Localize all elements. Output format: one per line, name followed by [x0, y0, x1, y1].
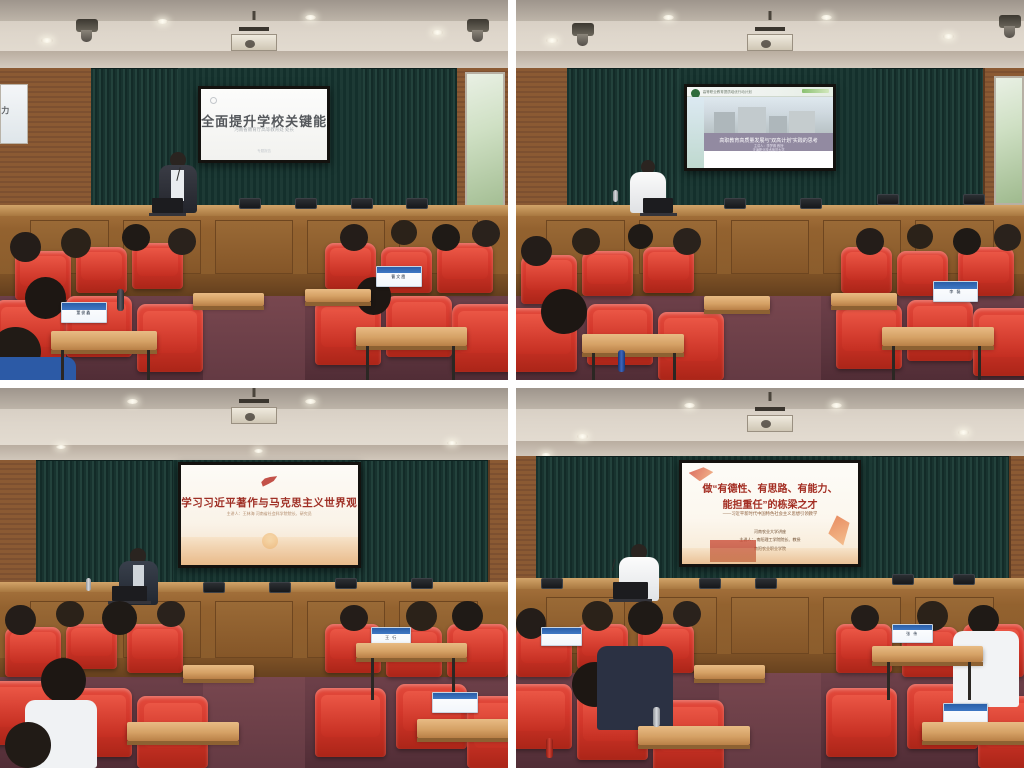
- ceiling-projector: [747, 34, 793, 51]
- ceiling-projector: [747, 415, 793, 432]
- audience-body: [0, 357, 76, 380]
- water-bottle: [618, 350, 625, 372]
- slide-subtitle-2: 天津职业技术师范大学: [704, 147, 833, 152]
- desk-monitor: [541, 578, 563, 589]
- desk: [356, 327, 468, 346]
- audience-head: [907, 224, 932, 249]
- slide-side-graphic: [687, 97, 705, 168]
- laptop: [152, 198, 182, 213]
- seat: [582, 251, 633, 297]
- projector-lens-icon: [761, 420, 771, 428]
- laptop: [112, 586, 148, 601]
- audience-head: [168, 228, 196, 255]
- party-emblem-icon: [261, 476, 277, 487]
- nameplate: 董俊鑫: [61, 302, 107, 323]
- desk: [872, 646, 984, 661]
- desk: [305, 289, 371, 302]
- desk-leg: [892, 346, 895, 380]
- audience-head: [851, 605, 879, 632]
- building-shape: [789, 111, 815, 133]
- desk: [831, 293, 897, 306]
- desk: [183, 665, 254, 678]
- desk-leg: [61, 350, 64, 380]
- projection-screen-frame: 做“有德性、有思路、有能力、 能担重任”的栋梁之才 ——习近平新时代中国特色社会…: [679, 460, 862, 566]
- ceiling-camera-icon: [572, 23, 594, 36]
- downlight: [254, 449, 263, 453]
- desk-monitor: [755, 578, 777, 589]
- slide-header-accent: [802, 89, 828, 93]
- projector-arm: [755, 407, 785, 411]
- slide-bullet-icon: [210, 97, 217, 104]
- desk: [922, 722, 1024, 741]
- projection-screen-frame: 全面提升学校关键能力 河南省教育厅高等教育处 处长 专题报告: [198, 86, 330, 164]
- water-bottle: [653, 707, 660, 727]
- audience-head: [521, 236, 551, 266]
- projection-screen-frame: 学习习近平著作与马克思主义世界观 主讲人：王林海 河南省社会科学院院长、研究员: [178, 462, 361, 568]
- ceiling-projector: [231, 34, 277, 51]
- desk-leg: [978, 346, 981, 380]
- slide-meta-1: 河南农业大学讲座: [682, 529, 859, 535]
- ceiling-projector: [231, 407, 277, 424]
- nameplate: 张 伟: [892, 624, 933, 643]
- building-shape: [738, 107, 766, 133]
- slide-header: 高等职业教育提质培优行动计划: [687, 87, 833, 98]
- audience-head: [572, 228, 600, 255]
- desk: [51, 331, 158, 350]
- flag-graphic: [689, 467, 714, 481]
- desk: [638, 726, 750, 745]
- desk-monitor: [269, 582, 291, 593]
- audience-head: [452, 601, 482, 631]
- desk-leg: [592, 353, 595, 380]
- window: [465, 72, 506, 216]
- audience-head: [10, 232, 40, 262]
- downlight: [958, 430, 969, 435]
- horizon-graphic: [682, 548, 859, 564]
- audience-body: [597, 646, 673, 730]
- nameplate-text: 董俊鑫: [62, 310, 106, 316]
- audience-body: [953, 631, 1019, 707]
- desk: [417, 719, 508, 738]
- projection-screen: 高等职业教育提质培优行动计划 高职教育高质量发展与“双高计划”实践的思考 主讲人…: [687, 87, 833, 168]
- nameplate-band: [433, 693, 477, 699]
- podium-top: [516, 205, 1024, 216]
- projector-lens-icon: [245, 40, 255, 48]
- panel-top-left: 能力 全面提升学校关键能力 河南省教育厅高等教育处 处长 专题报告: [0, 0, 508, 380]
- slide-title-line2: 能担重任”的栋梁之才: [682, 496, 859, 511]
- panel-top-right: 高等职业教育提质培优行动计划 高职教育高质量发展与“双高计划”实践的思考 主讲人…: [516, 0, 1024, 380]
- audience-head: [994, 224, 1022, 251]
- nameplate-band: [944, 704, 988, 710]
- projector-pole: [253, 388, 256, 397]
- water-bottle: [546, 738, 553, 758]
- projection-screen: 全面提升学校关键能力 河南省教育厅高等教育处 处长 专题报告: [201, 89, 327, 161]
- ceiling-camera-icon: [76, 19, 98, 32]
- projection-screen-frame: 高等职业教育提质培优行动计划 高职教育高质量发展与“双高计划”实践的思考 主讲人…: [684, 84, 836, 171]
- side-monitor: 能力: [0, 84, 28, 145]
- nameplate-band: [893, 625, 932, 631]
- nameplate-band: [372, 628, 411, 634]
- building-shape: [769, 116, 787, 133]
- desk-monitor: [892, 574, 914, 585]
- slide-meta-2: 主讲人： 南阳理工学院院长、教授: [682, 537, 859, 543]
- slide-header-text: 高等职业教育提质培优行动计划: [703, 90, 752, 95]
- desk-monitor: [800, 198, 822, 209]
- slide-subtitle: ——习近平新时代中国特色社会主义思想引领教学: [682, 511, 859, 517]
- desk-monitor: [351, 198, 373, 209]
- desk-monitor: [203, 582, 225, 593]
- downlight: [577, 434, 588, 439]
- projection-screen: 做“有德性、有思路、有能力、 能担重任”的栋梁之才 ——习近平新时代中国特色社会…: [682, 463, 859, 563]
- nameplate-band: [934, 282, 978, 288]
- nameplate-text: 张 伟: [893, 631, 932, 637]
- seat: [516, 684, 572, 749]
- center-aisle: [719, 673, 821, 768]
- desk: [127, 722, 239, 741]
- desk: [694, 665, 765, 678]
- desk-monitor: [724, 198, 746, 209]
- desk-monitor: [963, 194, 985, 205]
- laptop: [643, 198, 673, 213]
- nameplate-band: [62, 303, 106, 309]
- desk-leg: [673, 353, 676, 380]
- projector-lens-icon: [245, 413, 255, 421]
- ceiling-camera-icon: [467, 19, 489, 32]
- desk-monitor: [406, 198, 428, 209]
- audience-head: [56, 601, 84, 628]
- audience-head: [122, 224, 150, 251]
- projector-lens-icon: [761, 40, 771, 48]
- projector-pole: [253, 11, 256, 20]
- audience-head: [391, 220, 416, 245]
- window: [994, 76, 1024, 205]
- building-shape: [714, 112, 735, 133]
- desk-monitor: [295, 198, 317, 209]
- desk-monitor: [411, 578, 433, 589]
- campus-photo: [704, 97, 833, 133]
- slide-footer: 专题报告: [201, 149, 327, 154]
- audience-head: [628, 601, 664, 635]
- desk-leg: [452, 346, 455, 380]
- nameplate-text: 王 行: [372, 635, 411, 641]
- nameplate-text: 曹文霞: [377, 274, 421, 280]
- projector-arm: [755, 27, 785, 31]
- desk-leg: [147, 350, 150, 380]
- nameplate: 曹文霞: [376, 266, 422, 287]
- audience-head: [5, 722, 51, 768]
- water-bottle: [86, 578, 91, 591]
- audience-head: [582, 601, 612, 631]
- skyline-graphic: [181, 537, 358, 565]
- desk: [582, 334, 684, 353]
- slide-title-line1: 做“有德性、有思路、有能力、: [682, 480, 859, 495]
- audience-head: [432, 224, 460, 251]
- desk-leg: [366, 346, 369, 380]
- desk-monitor: [699, 578, 721, 589]
- seat: [127, 624, 183, 673]
- ceiling-camera-icon: [999, 15, 1021, 28]
- projector-pole: [769, 11, 772, 20]
- desk: [193, 293, 264, 306]
- nameplate-text: 李 磊: [934, 289, 978, 295]
- slide-subtitle: 主讲人：王林海 河南省社会科学院院长、研究员: [181, 511, 358, 517]
- nameplate: [943, 703, 989, 724]
- audience-head: [5, 605, 35, 635]
- nameplate-band: [377, 267, 421, 273]
- nameplate: [541, 627, 582, 646]
- projector-arm: [239, 27, 269, 31]
- audience-head: [953, 228, 981, 255]
- desk-monitor: [239, 198, 261, 209]
- downlight: [56, 445, 66, 449]
- panel-bottom-right: 做“有德性、有思路、有能力、 能担重任”的栋梁之才 ——习近平新时代中国特色社会…: [516, 388, 1024, 768]
- slide-title-bar: 高职教育高质量发展与“双高计划”实践的思考 主讲人：李梦卿 教授 天津职业技术师…: [704, 133, 833, 151]
- projector-arm: [239, 399, 269, 403]
- desk-monitor: [953, 574, 975, 585]
- audience-head: [673, 228, 701, 255]
- audience-head: [541, 289, 587, 335]
- water-bottle: [613, 190, 618, 202]
- thermos: [117, 289, 124, 311]
- slide-title: 学习习近平著作与马克思主义世界观: [181, 495, 358, 510]
- audience-head: [406, 601, 436, 631]
- laptop: [613, 582, 649, 599]
- downlight: [41, 38, 53, 43]
- desk: [704, 296, 770, 309]
- audience-head: [25, 277, 66, 319]
- audience-head: [340, 224, 368, 251]
- desk-leg: [887, 662, 890, 700]
- audience-head: [102, 601, 138, 635]
- downlight: [684, 403, 695, 408]
- nameplate: 李 磊: [933, 281, 979, 302]
- desk-leg: [968, 662, 971, 700]
- desk: [356, 643, 468, 658]
- slide-subtitle: 河南省教育厅高等教育处 处长: [201, 127, 327, 133]
- audience-head: [856, 228, 884, 255]
- desk-leg: [371, 658, 374, 700]
- desk-monitor: [877, 194, 899, 205]
- desk: [882, 327, 994, 346]
- desk-monitor: [335, 578, 357, 589]
- projection-screen: 学习习近平著作与马克思主义世界观 主讲人：王林海 河南省社会科学院院长、研究员: [181, 465, 358, 565]
- seat: [315, 688, 386, 756]
- projector-pole: [769, 392, 772, 401]
- panel-bottom-left: 学习习近平著作与马克思主义世界观 主讲人：王林海 河南省社会科学院院长、研究员: [0, 388, 508, 768]
- audience-head: [628, 224, 653, 249]
- nameplate-band: [542, 628, 581, 634]
- nameplate: [432, 692, 478, 713]
- photo-collage: 能力 全面提升学校关键能力 河南省教育厅高等教育处 处长 专题报告: [0, 0, 1024, 768]
